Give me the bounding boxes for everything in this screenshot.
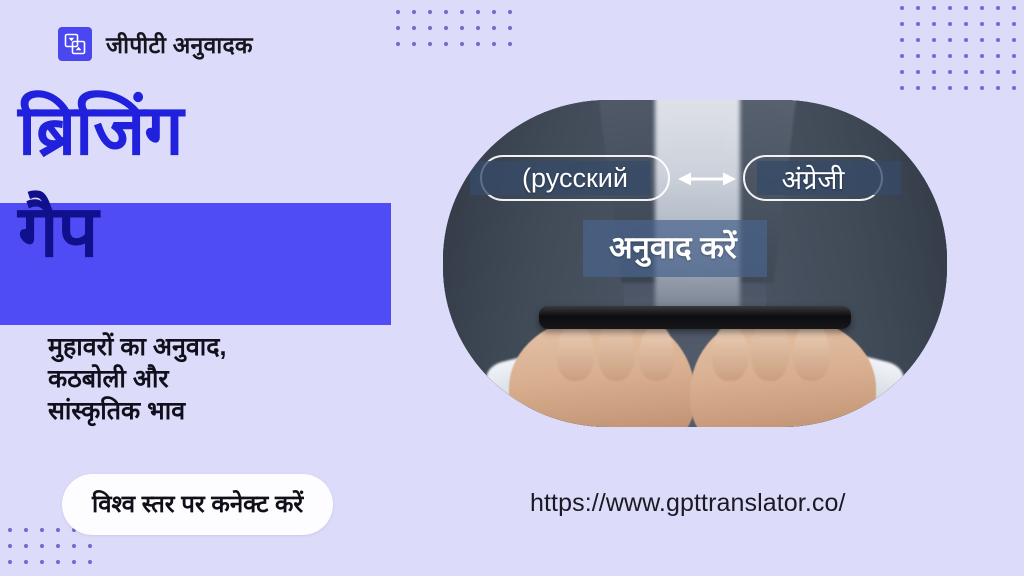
website-url[interactable]: https://www.gpttranslator.co/ [530,489,846,518]
subtitle-line-1: मुहावरों का अनुवाद, [48,331,398,363]
smartphone [539,306,851,329]
decor-dot [444,10,448,14]
decor-dot [916,54,920,58]
decor-dot [996,70,1000,74]
decor-dot [980,6,984,10]
decor-dot [88,560,92,564]
decor-dot [916,70,920,74]
decor-dot [996,38,1000,42]
shirt-and-tie [655,100,741,316]
decor-dot [8,560,12,564]
target-language-pill[interactable]: अंग्रेजी [743,155,883,201]
decor-dot [948,6,952,10]
decor-dot [72,560,76,564]
decor-dot [996,86,1000,90]
hero-photo: (русский अंग्रेजी अनुवाद करें [443,100,947,427]
decor-dot [460,26,464,30]
banner-root: जीपीटी अनुवादक ब्रिजिंग गैप मुहावरों का … [0,0,1024,576]
decor-dot [396,10,400,14]
decor-dot [948,22,952,26]
decor-dot [40,560,44,564]
decor-dot [916,86,920,90]
decor-dot [56,528,60,532]
decor-dot [932,86,936,90]
translate-squares-icon [58,27,92,61]
decor-dot [8,544,12,548]
decor-dot [948,70,952,74]
decor-dot [24,544,28,548]
decor-dot [900,86,904,90]
decor-dot [948,38,952,42]
decor-dot [8,528,12,532]
decor-dot [1012,38,1016,42]
subtitle-line-2: कठबोली और [48,363,398,395]
decor-dot [932,70,936,74]
decor-dot [88,544,92,548]
decor-dot [460,10,464,14]
decor-dot [24,560,28,564]
decor-dot [412,42,416,46]
source-language-pill[interactable]: (русский [480,155,670,201]
decor-dot [396,26,400,30]
decor-dot [1012,22,1016,26]
decor-dot [980,86,984,90]
decor-dot [996,22,1000,26]
decor-dot [1012,86,1016,90]
decor-dot [428,26,432,30]
decor-dot [492,42,496,46]
decor-dot [412,10,416,14]
decor-dot [428,42,432,46]
decor-dot [1012,6,1016,10]
decor-dot [72,544,76,548]
dot-grid-bottom-left [8,528,104,576]
decor-dot [460,42,464,46]
connect-globally-button[interactable]: विश्व स्तर पर कनेक्ट करें [62,474,333,535]
translate-button-label: अनुवाद करें [609,230,737,265]
decor-dot [980,70,984,74]
decor-dot [996,54,1000,58]
decor-dot [900,54,904,58]
decor-dot [948,86,952,90]
decor-dot [508,26,512,30]
decor-dot [508,42,512,46]
decor-dot [396,42,400,46]
dot-grid-top-right [900,6,1024,102]
decor-dot [900,38,904,42]
decor-dot [492,26,496,30]
decor-dot [964,70,968,74]
source-language-label: (русский [522,163,628,194]
decor-dot [932,38,936,42]
decor-dot [964,54,968,58]
brand-lockup[interactable]: जीपीटी अनुवादक [58,27,253,61]
dot-grid-top-left [396,10,524,58]
decor-dot [964,86,968,90]
decor-dot [1012,54,1016,58]
decor-dot [900,70,904,74]
translate-button[interactable]: अनुवाद करें [583,220,767,277]
decor-dot [980,38,984,42]
decor-dot [916,22,920,26]
decor-dot [900,22,904,26]
headline-line-2: गैप [18,196,97,268]
decor-dot [40,528,44,532]
cta-label: विश्व स्तर पर कनेक्ट करें [92,487,303,520]
decor-dot [40,544,44,548]
decor-dot [964,22,968,26]
decor-dot [980,22,984,26]
decor-dot [996,6,1000,10]
decor-dot [980,54,984,58]
brand-name: जीपीटी अनुवादक [106,28,253,60]
decor-dot [1012,70,1016,74]
decor-dot [444,42,448,46]
decor-dot [24,528,28,532]
decor-dot [964,6,968,10]
subtitle: मुहावरों का अनुवाद, कठबोली और सांस्कृतिक… [48,331,398,427]
decor-dot [412,26,416,30]
decor-dot [932,6,936,10]
decor-dot [508,10,512,14]
target-language-label: अंग्रेजी [782,160,845,197]
decor-dot [932,22,936,26]
decor-dot [428,10,432,14]
decor-dot [476,10,480,14]
decor-dot [916,6,920,10]
subtitle-line-3: सांस्कृतिक भाव [48,395,398,427]
decor-dot [476,26,480,30]
decor-dot [916,38,920,42]
decor-dot [476,42,480,46]
decor-dot [444,26,448,30]
decor-dot [492,10,496,14]
decor-dot [948,54,952,58]
bidirectional-arrow-icon[interactable] [676,169,738,189]
decor-dot [932,54,936,58]
page-title: ब्रिजिंग [0,96,430,165]
decor-dot [900,6,904,10]
decor-dot [56,560,60,564]
decor-dot [56,544,60,548]
headline-line-1: ब्रिजिंग [18,96,430,165]
decor-dot [964,38,968,42]
